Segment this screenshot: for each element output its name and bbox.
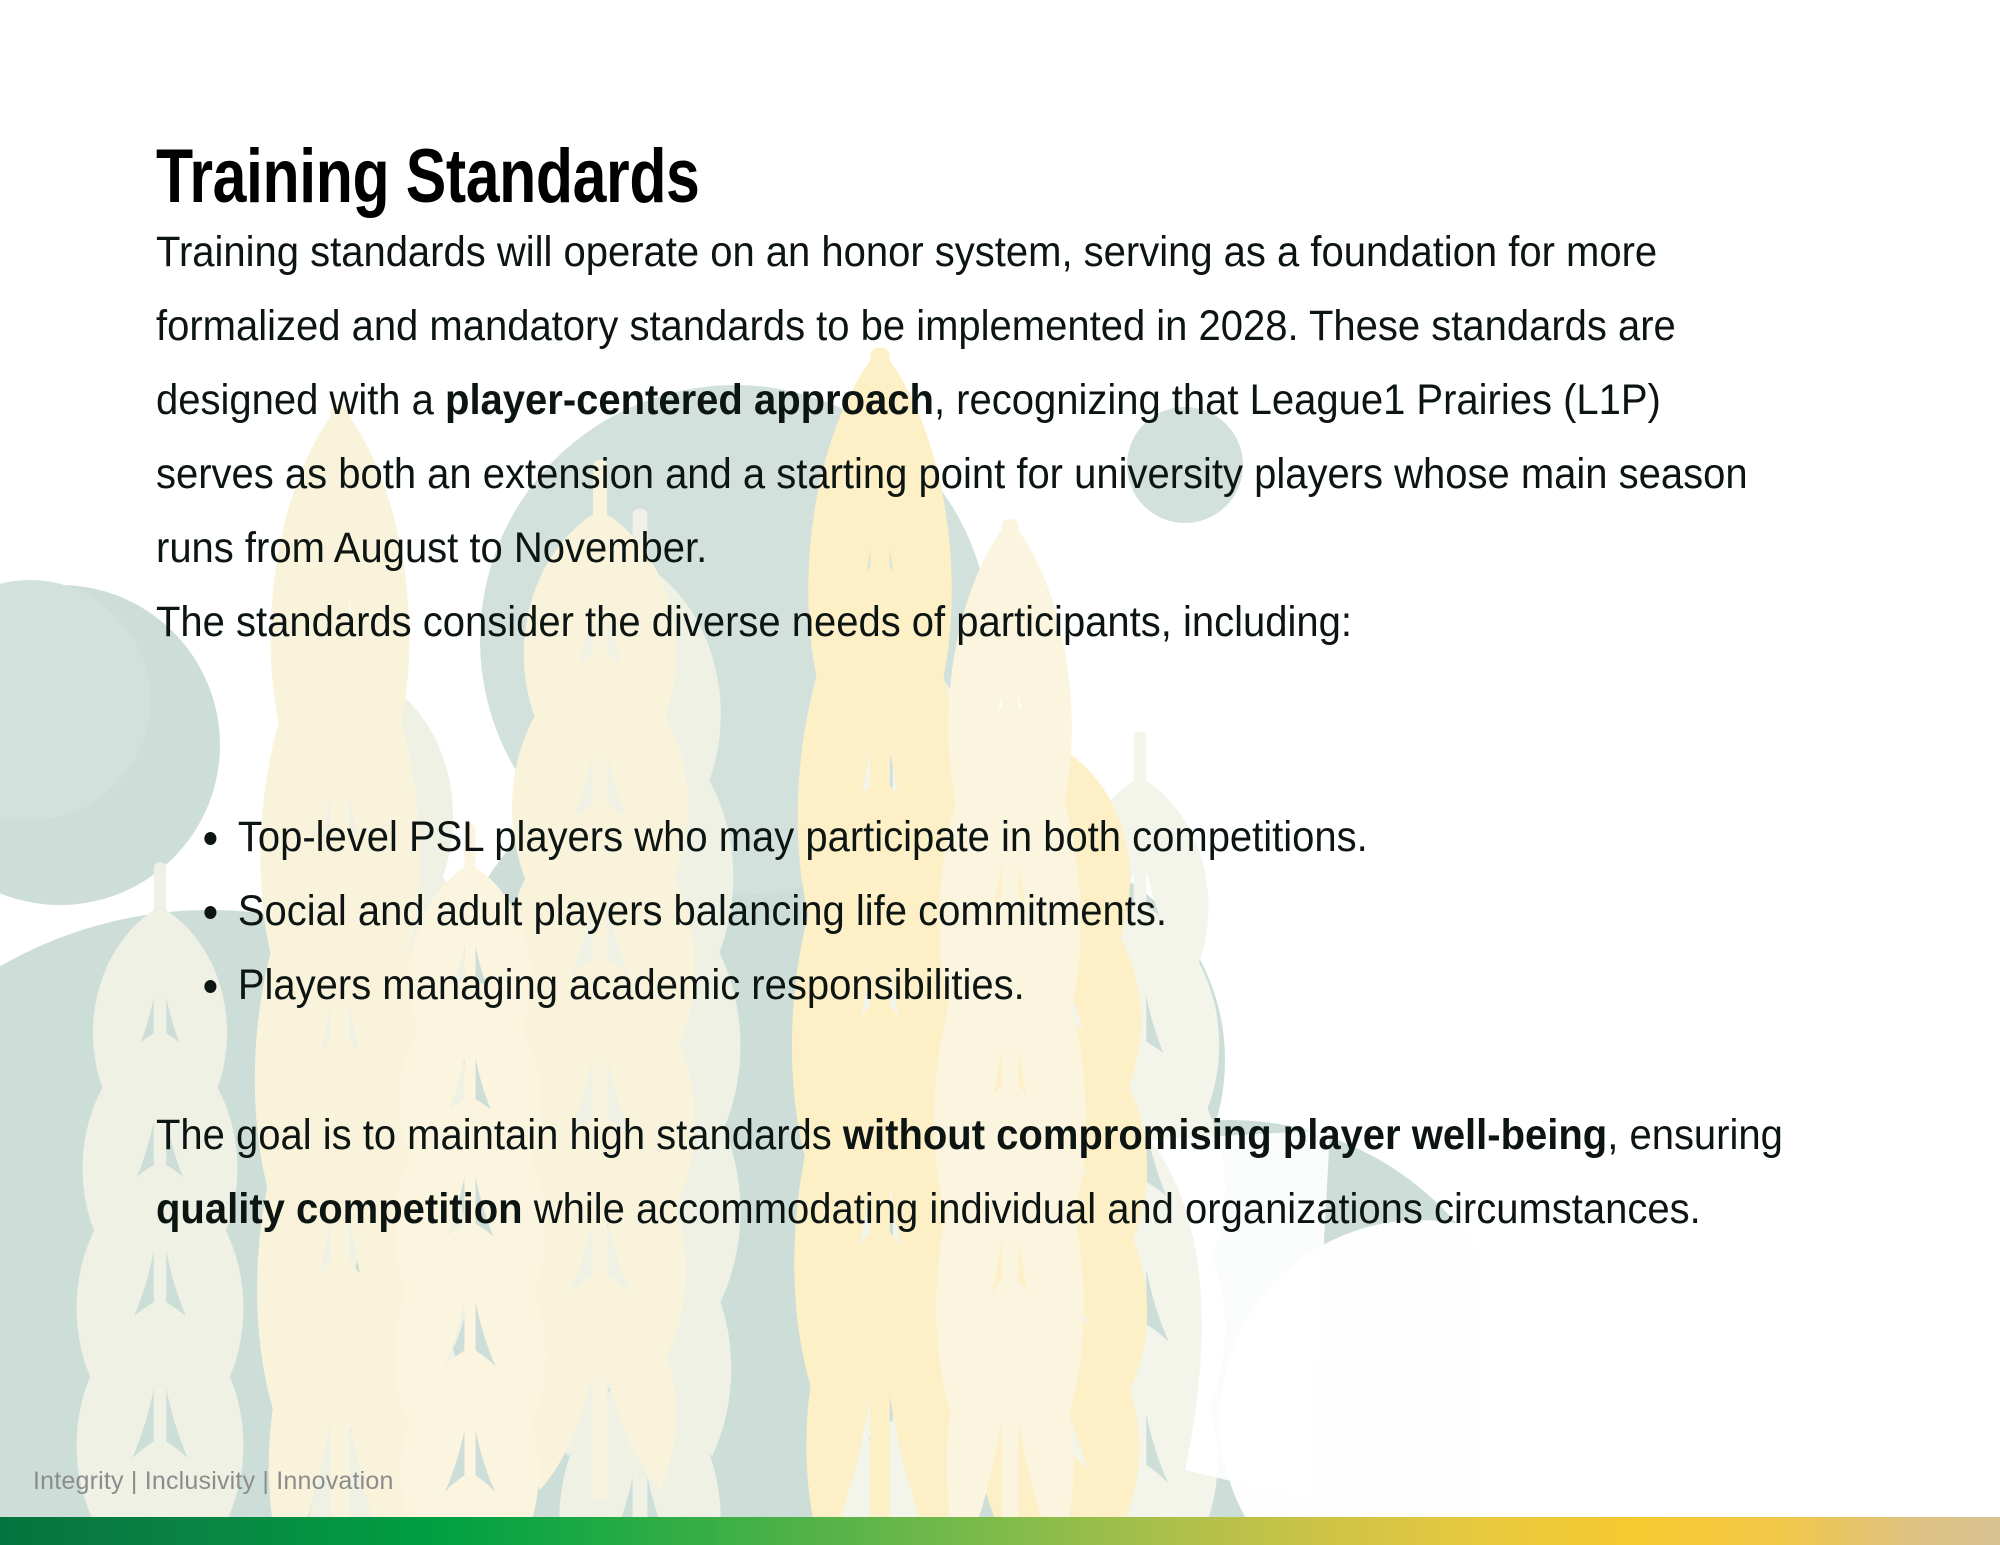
bottom-gradient-bar — [0, 1517, 2000, 1545]
closing-part-2: , ensuring — [1607, 1111, 1783, 1159]
list-item: Social and adult players balancing life … — [156, 874, 1765, 948]
intro-paragraph-2: The standards consider the diverse needs… — [156, 585, 1765, 659]
closing-bold-2: quality competition — [156, 1185, 523, 1233]
page-title: Training Standards — [156, 139, 699, 215]
needs-bullet-list: Top-level PSL players who may participat… — [156, 800, 1765, 1022]
footer-tagline: Integrity | Inclusivity | Innovation — [33, 1467, 394, 1496]
closing-bold-1: without compromising player well-being — [843, 1111, 1607, 1159]
intro-paragraphs: Training standards will operate on an ho… — [156, 215, 1765, 659]
closing-part-1: The goal is to maintain high standards — [156, 1111, 843, 1159]
list-item: Players managing academic responsibiliti… — [156, 948, 1765, 1022]
closing-line: The goal is to maintain high standards w… — [156, 1098, 1793, 1246]
closing-paragraph: The goal is to maintain high standards w… — [156, 1098, 1793, 1246]
bullet-text: Social and adult players balancing life … — [238, 887, 1167, 935]
slide-canvas: Training Standards Training standards wi… — [0, 0, 2000, 1545]
list-item: Top-level PSL players who may participat… — [156, 800, 1765, 874]
closing-part-3: while accommodating individual and organ… — [523, 1185, 1701, 1233]
intro-p1-bold-1: player-centered approach — [445, 376, 934, 424]
intro-paragraph-1: Training standards will operate on an ho… — [156, 215, 1765, 585]
bullet-text: Players managing academic responsibiliti… — [238, 961, 1025, 1009]
bullet-text: Top-level PSL players who may participat… — [238, 813, 1368, 861]
